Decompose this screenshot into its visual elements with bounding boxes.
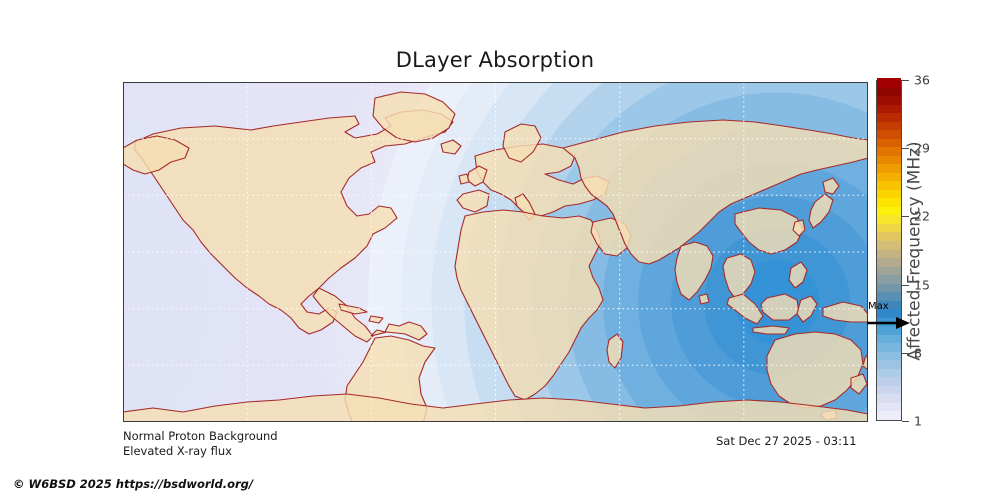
- colorbar-segment: [877, 385, 901, 394]
- colorbar-segment: [877, 130, 901, 139]
- land-sri-lanka: [699, 294, 709, 304]
- arrow-right-icon: [866, 315, 910, 331]
- colorbar-segment: [877, 249, 901, 258]
- colorbar-segment: [877, 172, 901, 181]
- colorbar-segment: [877, 121, 901, 130]
- colorbar-segment: [877, 377, 901, 386]
- status-proton: Normal Proton Background: [123, 429, 278, 444]
- colorbar-segment: [877, 155, 901, 164]
- colorbar-segment: [877, 138, 901, 147]
- world-map[interactable]: [123, 82, 868, 422]
- colorbar-segment: [877, 343, 901, 352]
- colorbar-segment: [877, 402, 901, 411]
- colorbar-segment: [877, 95, 901, 104]
- colorbar-segment: [877, 274, 901, 283]
- colorbar-segment: [877, 189, 901, 198]
- figure-canvas: DLayer Absorption: [0, 0, 1000, 500]
- colorbar-gradient: [876, 80, 902, 421]
- colorbar-segment: [877, 164, 901, 173]
- map-svg: [123, 82, 868, 422]
- timestamp: Sat Dec 27 2025 - 03:11: [716, 434, 857, 448]
- max-marker: Max: [866, 301, 918, 333]
- colorbar-segment: [877, 215, 901, 224]
- colorbar-segment: [877, 240, 901, 249]
- copyright-notice: © W6BSD 2025 https://bsdworld.org/: [13, 477, 253, 491]
- colorbar-segment: [877, 283, 901, 292]
- page-title: DLayer Absorption: [0, 48, 990, 72]
- colorbar-axis-label: Affected Frequency (MHz): [905, 80, 925, 421]
- colorbar-segment: [877, 360, 901, 369]
- colorbar-segment: [877, 351, 901, 360]
- colorbar-tick-mark: [902, 421, 909, 422]
- colorbar-segment: [877, 87, 901, 96]
- max-marker-label: Max: [868, 301, 889, 312]
- colorbar-segment: [877, 198, 901, 207]
- colorbar-segment: [877, 334, 901, 343]
- colorbar[interactable]: 3629221581: [876, 80, 902, 421]
- colorbar-segment: [877, 266, 901, 275]
- colorbar-segment: [877, 113, 901, 122]
- colorbar-segment: [877, 368, 901, 377]
- colorbar-segment: [877, 292, 901, 301]
- status-xray: Elevated X-ray flux: [123, 444, 278, 459]
- colorbar-segment: [877, 147, 901, 156]
- colorbar-segment: [877, 257, 901, 266]
- colorbar-segment: [877, 206, 901, 215]
- colorbar-segment: [877, 223, 901, 232]
- colorbar-segment: [877, 181, 901, 190]
- land-java: [753, 326, 789, 334]
- status-block: Normal Proton Background Elevated X-ray …: [123, 429, 278, 459]
- colorbar-segment: [877, 78, 901, 87]
- land-ireland: [459, 174, 469, 184]
- colorbar-segment: [877, 394, 901, 403]
- colorbar-segment: [877, 104, 901, 113]
- colorbar-segment: [877, 411, 901, 420]
- colorbar-segment: [877, 232, 901, 241]
